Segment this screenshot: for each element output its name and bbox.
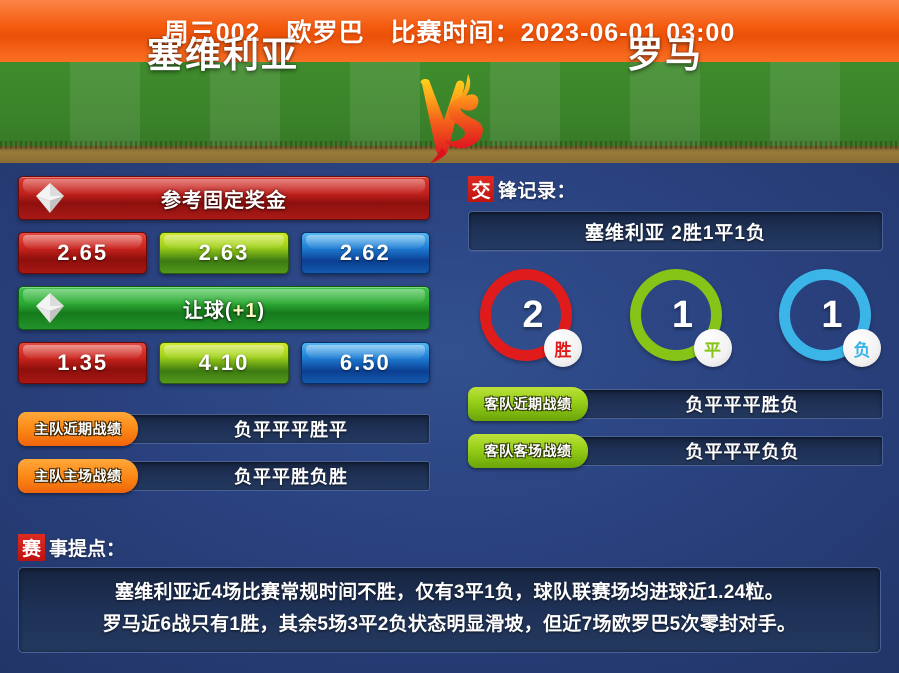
- away-recent-form-tab: 客队近期战绩: [468, 387, 588, 421]
- away-team-name: 罗马: [500, 26, 830, 78]
- tips-line-1: 塞维利亚近4场比赛常规时间不胜，仅有3平1负，球队联赛场均进球近1.24粒。: [33, 577, 866, 609]
- odds-panel: 参考固定奖金 2.65 2.63 2.62 让球(+1) 1: [18, 176, 430, 506]
- fixed-odd-draw-value: 2.63: [199, 240, 250, 266]
- away-away-form-value-bar: 负平平平负负: [572, 436, 883, 466]
- home-home-form-value: 负平平胜负胜: [234, 463, 348, 489]
- away-away-form-tab: 客队客场战绩: [468, 434, 588, 468]
- h2h-ring-win: 2 胜: [480, 269, 572, 361]
- match-preview-graphic: 周三002 欧罗巴 比赛时间：2023-06-01 03:00 塞维利亚 罗马: [0, 0, 899, 673]
- handicap-odd-draw-value: 4.10: [199, 350, 250, 376]
- h2h-heading-text: 锋记录：: [498, 176, 576, 203]
- handicap-title-suffix: ): [257, 300, 265, 322]
- tips-heading: 赛 事提点：: [18, 534, 881, 561]
- home-home-form-row: 主队主场战绩 负平平胜负胜: [18, 459, 430, 493]
- h2h-ring-draw-tag: 平: [694, 329, 732, 367]
- fixed-odd-home-value: 2.65: [57, 240, 108, 266]
- home-recent-form-value: 负平平平胜平: [234, 416, 348, 442]
- away-recent-form-label: 客队近期战绩: [485, 394, 572, 414]
- h2h-rings: 2 胜 1 平 1 负: [468, 269, 883, 361]
- handicap-odd-home[interactable]: 1.35: [18, 342, 147, 384]
- h2h-summary-text: 塞维利亚 2胜1平1负: [585, 218, 766, 245]
- vs-flame-icon: [408, 68, 508, 164]
- handicap-odd-home-value: 1.35: [57, 350, 108, 376]
- fixed-odd-home[interactable]: 2.65: [18, 232, 147, 274]
- handicap-title: 让球(+1): [183, 294, 265, 323]
- fixed-odds-title-bar: 参考固定奖金: [18, 176, 430, 220]
- handicap-title-prefix: 让球(: [183, 300, 233, 322]
- handicap-title-bar: 让球(+1): [18, 286, 430, 330]
- home-home-form-tab: 主队主场战绩: [18, 459, 138, 493]
- handicap-odd-away[interactable]: 6.50: [301, 342, 430, 384]
- away-recent-form-value-bar: 负平平平胜负: [572, 389, 883, 419]
- h2h-summary-bar: 塞维利亚 2胜1平1负: [468, 211, 883, 251]
- home-recent-form-label: 主队近期战绩: [35, 419, 122, 439]
- tips-section: 赛 事提点： 塞维利亚近4场比赛常规时间不胜，仅有3平1负，球队联赛场均进球近1…: [18, 534, 881, 653]
- tips-line-2: 罗马近6战只有1胜，其余5场3平2负状态明显滑坡，但近7场欧罗巴5次零封对手。: [33, 609, 866, 641]
- away-away-form-row: 客队客场战绩 负平平平负负: [468, 434, 883, 468]
- away-recent-form-value: 负平平平胜负: [686, 391, 800, 417]
- fixed-odds-title: 参考固定奖金: [161, 184, 287, 213]
- tips-heading-text: 事提点：: [49, 534, 125, 561]
- home-recent-form-row: 主队近期战绩 负平平平胜平: [18, 412, 430, 446]
- handicap-odds-row: 1.35 4.10 6.50: [18, 342, 430, 384]
- h2h-ring-loss-tag: 负: [843, 329, 881, 367]
- fixed-odds-row: 2.65 2.63 2.62: [18, 232, 430, 274]
- h2h-ring-loss: 1 负: [779, 269, 871, 361]
- tips-body: 塞维利亚近4场比赛常规时间不胜，仅有3平1负，球队联赛场均进球近1.24粒。 罗…: [18, 567, 881, 653]
- home-recent-form-tab: 主队近期战绩: [18, 412, 138, 446]
- fixed-odd-away[interactable]: 2.62: [301, 232, 430, 274]
- h2h-panel: 交 锋记录： 塞维利亚 2胜1平1负 2 胜 1 平 1 负: [468, 176, 883, 481]
- tips-heading-badge: 赛: [18, 534, 45, 561]
- fixed-odd-draw[interactable]: 2.63: [159, 232, 288, 274]
- h2h-ring-draw: 1 平: [630, 269, 722, 361]
- handicap-value: +1: [233, 300, 258, 322]
- home-team-name: 塞维利亚: [58, 26, 388, 78]
- home-recent-form-value-bar: 负平平平胜平: [122, 414, 430, 444]
- h2h-heading-badge: 交: [468, 176, 494, 202]
- handicap-odd-away-value: 6.50: [340, 350, 391, 376]
- away-away-form-value: 负平平平负负: [686, 438, 800, 464]
- away-recent-form-row: 客队近期战绩 负平平平胜负: [468, 387, 883, 421]
- away-away-form-label: 客队客场战绩: [485, 441, 572, 461]
- h2h-ring-win-tag: 胜: [544, 329, 582, 367]
- home-home-form-label: 主队主场战绩: [35, 466, 122, 486]
- diamond-gem-icon: [33, 291, 67, 325]
- h2h-heading: 交 锋记录：: [468, 176, 883, 202]
- fixed-odd-away-value: 2.62: [340, 240, 391, 266]
- diamond-gem-icon: [33, 181, 67, 215]
- home-home-form-value-bar: 负平平胜负胜: [122, 461, 430, 491]
- handicap-odd-draw[interactable]: 4.10: [159, 342, 288, 384]
